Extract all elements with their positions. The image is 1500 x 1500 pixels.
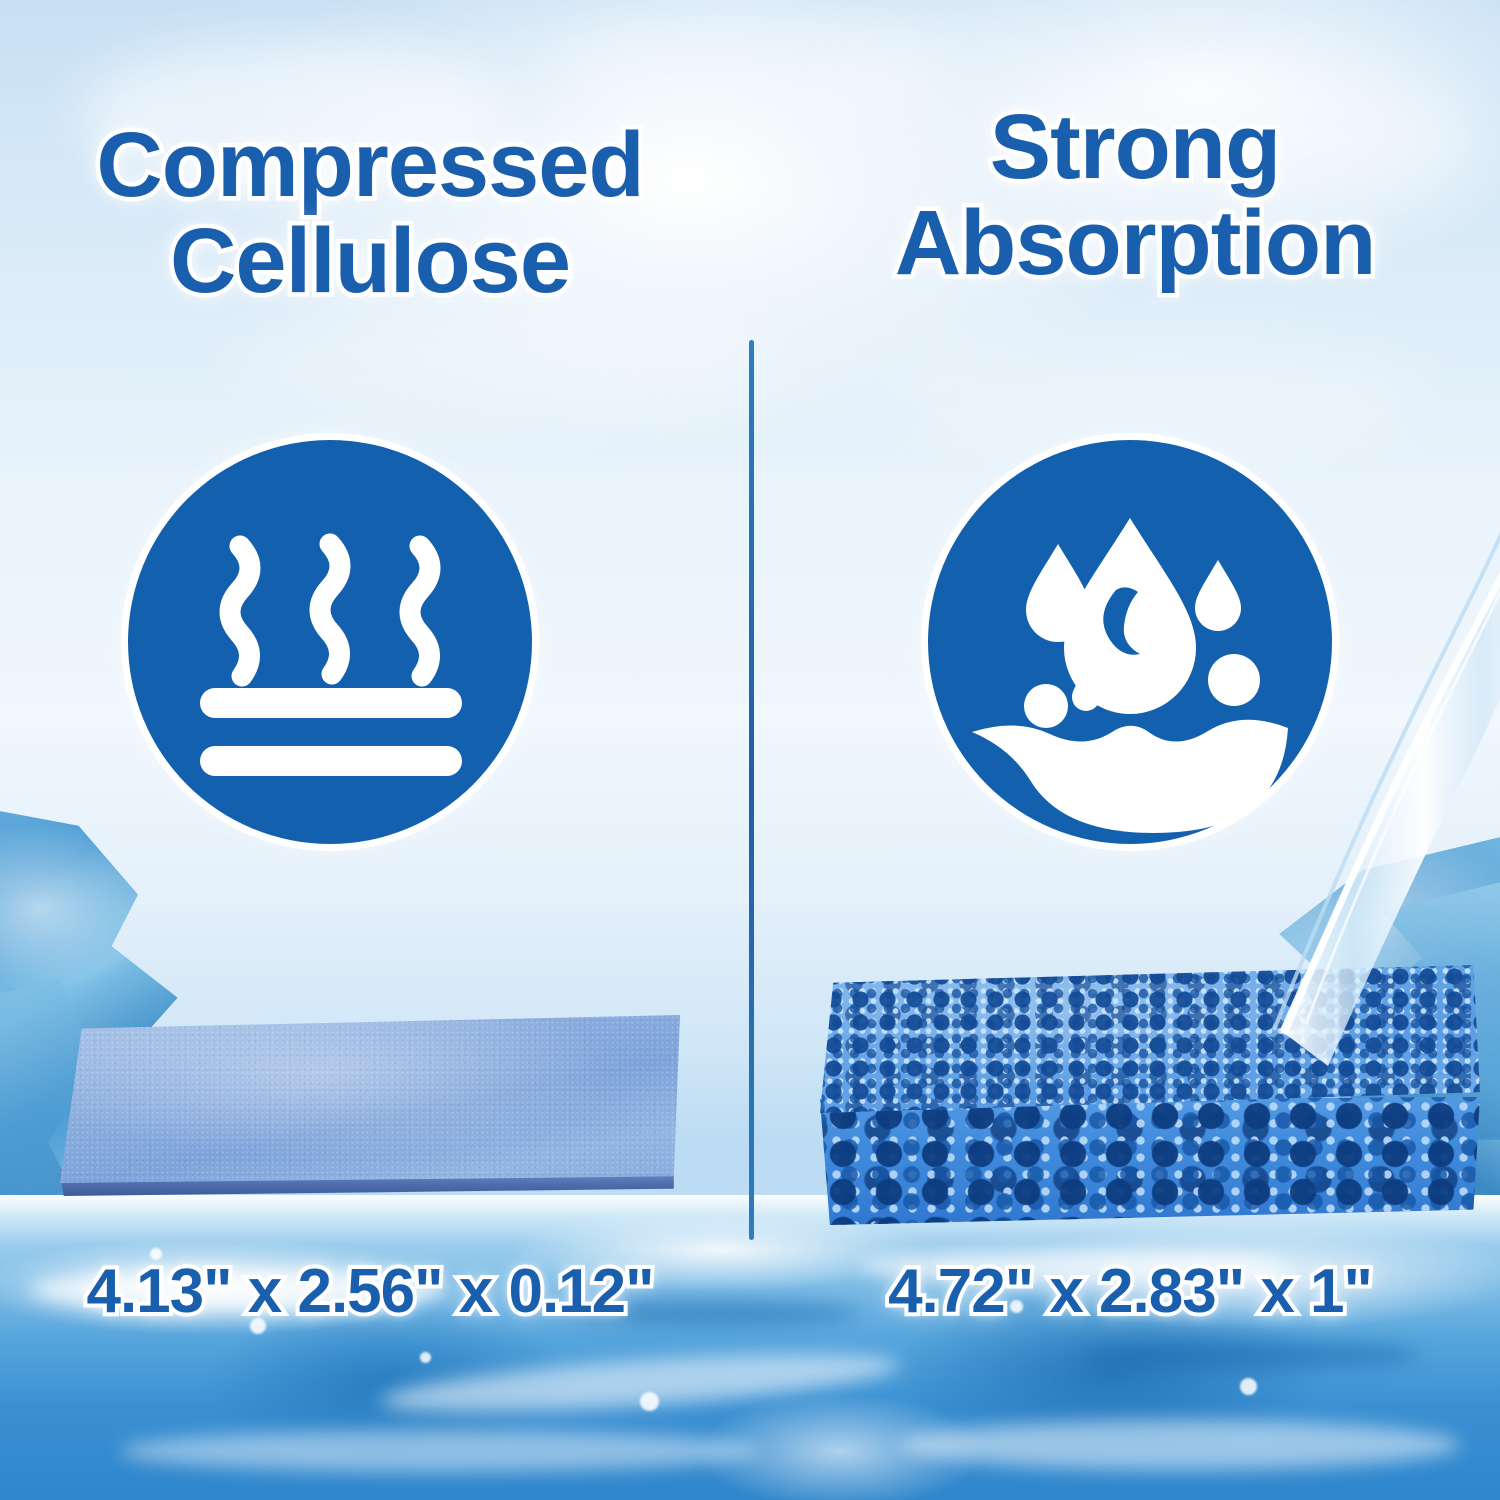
water-foam-streak <box>1080 1340 1420 1370</box>
water-foam-streak <box>900 1420 1460 1470</box>
dimension-label-compressed: 4.13" x 2.56" x 0.12" <box>10 1256 730 1327</box>
dimension-label-expanded: 4.72" x 2.83" x 1" <box>780 1256 1480 1327</box>
water-bubble <box>640 1392 659 1411</box>
water-bubble <box>1240 1378 1257 1395</box>
sponge-sheet-grain <box>60 1015 680 1183</box>
compressed-layers-icon <box>128 440 532 844</box>
infographic-canvas: Compressed Cellulose Strong Absorption <box>0 0 1500 1500</box>
pouring-water-stream <box>1210 510 1500 1070</box>
panel-divider <box>749 340 754 1240</box>
panel-heading-strong-absorption: Strong Absorption <box>790 100 1480 291</box>
panel-heading-compressed-cellulose: Compressed Cellulose <box>20 118 720 309</box>
water-foam-streak <box>120 1430 760 1472</box>
sponge-sheet-top <box>60 1015 680 1183</box>
compressed-sponge-sheet <box>60 1015 680 1230</box>
water-bubble <box>420 1352 431 1363</box>
sponge-block-front-face <box>820 1097 1480 1225</box>
cloud-decoration <box>240 300 780 420</box>
sponge-pore-texture-coarse <box>820 1097 1480 1225</box>
